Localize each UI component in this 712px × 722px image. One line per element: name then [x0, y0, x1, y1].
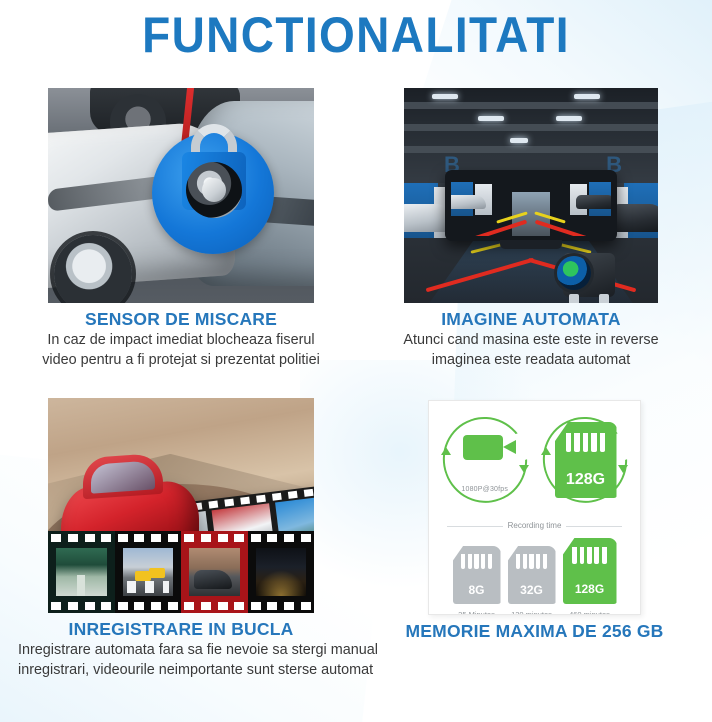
- ceiling-light: [432, 94, 458, 99]
- ceiling-beam: [404, 102, 658, 109]
- dashcam-screen: [451, 175, 612, 236]
- camera-bracket: [569, 294, 579, 303]
- perforations-bottom: [248, 599, 315, 613]
- perforations-top: [48, 531, 115, 545]
- video-camera-icon: [463, 435, 503, 460]
- feature-title-2: IMAGINE AUTOMATA: [404, 309, 658, 330]
- parked-car-dark: [612, 204, 658, 232]
- memory-infographic: 1080P@30fps 128G Recording time: [429, 401, 640, 614]
- screen-parked-car-dark: [576, 195, 611, 208]
- feature-body-1-line1: In caz de impact imediat blocheaza fiser…: [18, 330, 344, 350]
- feature-image-memory-infographic: 1080P@30fps 128G Recording time: [428, 400, 641, 615]
- filmstrip-frame-accident: [181, 531, 248, 613]
- memory-card-option-8g: 8G 25 Minutes: [453, 546, 501, 615]
- sd-card-icon-8g: 8G: [453, 546, 501, 604]
- sd-card-pins: [572, 547, 607, 564]
- filmstrip-bottom-row: [48, 531, 314, 613]
- sd-card-icon-32g: 32G: [508, 546, 556, 604]
- garage-scene: B B: [404, 88, 658, 303]
- perforations-bottom: [115, 599, 182, 613]
- sd-card-icon-128g: 128G: [555, 422, 617, 498]
- recording-time-cards: 8G 25 Minutes 32G 120 minutes: [443, 538, 626, 615]
- mirror-dashcam-display: [445, 170, 618, 241]
- feature-body-3-line2: inregistrari, videourile neimportante su…: [18, 660, 344, 680]
- sd-card-icon-128g-highlight: 128G: [563, 538, 617, 604]
- perforations-top: [181, 531, 248, 545]
- recording-time-divider: Recording time: [447, 521, 622, 530]
- screen-parked-car-white: [451, 195, 486, 208]
- padlock-dial-icon: [186, 162, 242, 218]
- feature-body-1-line2: video pentru a fi protejat si prezentat …: [18, 350, 344, 370]
- frame-image-city-street: [123, 548, 174, 596]
- page-title: FUNCTIONALITATI: [28, 6, 683, 64]
- ceiling-light: [510, 138, 528, 143]
- frame-image-accident: [189, 548, 240, 596]
- ceiling-beam: [404, 124, 658, 131]
- feature-title-3: INREGISTRARE IN BUCLA: [48, 619, 314, 640]
- sd-card-capacity-label: 128G: [566, 471, 605, 489]
- car-wheel-icon: [54, 235, 132, 303]
- perforations-bottom: [48, 599, 115, 613]
- filmstrip-frame-forest-road: [48, 531, 115, 613]
- feature-card-memorie-maxima: 1080P@30fps 128G Recording time: [428, 400, 641, 642]
- feature-card-sensor-de-miscare: SENSOR DE MISCARE In caz de impact imedi…: [48, 88, 314, 371]
- loop-cycle-video: 1080P@30fps: [443, 417, 527, 503]
- feature-title-4: MEMORIE MAXIMA DE 256 GB: [388, 621, 681, 642]
- camera-bracket: [599, 294, 609, 303]
- feature-card-inregistrare-in-bucla: INREGISTRARE IN BUCLA Inregistrare autom…: [48, 398, 314, 681]
- cycle-arrow-up-icon: [541, 447, 551, 455]
- feature-image-garage-camera: B B: [404, 88, 658, 303]
- mirror-stand: [500, 240, 562, 249]
- filmstrip-frame-city-street: [115, 531, 182, 613]
- perforations-bottom: [181, 599, 248, 613]
- ceiling-light: [574, 94, 600, 99]
- cycle-ring-icon: [431, 405, 539, 514]
- perforations-top: [115, 531, 182, 545]
- camera-lens-icon: [557, 256, 591, 290]
- recording-time-label: 120 minutes: [508, 610, 556, 615]
- car-windshield: [92, 460, 156, 494]
- loop-recording-row: 1080P@30fps 128G: [443, 417, 626, 511]
- perforations-top: [248, 531, 315, 545]
- cycle-arrow-up-icon: [441, 447, 451, 455]
- sd-card-pins: [516, 554, 547, 569]
- feature-title-1: SENSOR DE MISCARE: [48, 309, 314, 330]
- filmstrip-frame-night-street: [248, 531, 315, 613]
- memory-card-option-32g: 32G 120 minutes: [508, 546, 556, 615]
- sd-card-pins: [566, 433, 606, 453]
- feature-body-2-line1: Atunci cand masina este este in reverse: [380, 330, 682, 350]
- sd-card-capacity-label: 128G: [575, 582, 604, 596]
- feature-card-imagine-automata: B B: [404, 88, 658, 371]
- ceiling-light: [556, 116, 582, 121]
- feature-body-3-line1: Inregistrare automata fara sa fie nevoie…: [18, 640, 344, 660]
- loop-cycle-card: 128G: [543, 417, 627, 503]
- loop-resolution-label: 1080P@30fps: [443, 486, 527, 493]
- sd-card-pins: [461, 554, 492, 569]
- frame-image-night-street: [256, 548, 307, 596]
- parked-car-white: [404, 204, 450, 232]
- crashed-car: [194, 570, 232, 589]
- frame-image-forest-road: [56, 548, 107, 596]
- recording-time-label: 25 Minutes: [453, 610, 501, 615]
- memory-card-option-128g: 128G 460 minutes: [563, 538, 617, 615]
- ceiling-light: [478, 116, 504, 121]
- sd-card-capacity-label: 32G: [520, 583, 543, 597]
- cycle-arrow-down-icon: [618, 465, 628, 473]
- recording-time-label: 460 minutes: [563, 610, 617, 615]
- feature-image-sportscar-filmstrip: [48, 398, 314, 613]
- feature-image-crash-padlock: [48, 88, 314, 303]
- sd-card-capacity-label: 8G: [468, 583, 484, 597]
- taxi-cab: [149, 568, 165, 578]
- feature-body-2-line2: imaginea este readata automat: [380, 350, 682, 370]
- reverse-camera-icon: [563, 253, 615, 297]
- cycle-arrow-down-icon: [519, 465, 529, 473]
